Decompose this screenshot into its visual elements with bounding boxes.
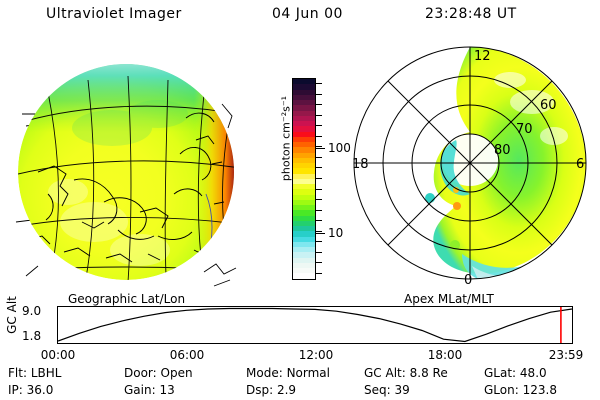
time-tick-4: 23:59: [549, 348, 584, 362]
status-mode-label: Mode:: [246, 366, 283, 380]
orbit-ytick-high: 9.0: [22, 304, 41, 318]
time-tick-2: 12:00: [299, 348, 334, 362]
orbit-altitude-panel[interactable]: GC Alt 9.0 1.8: [0, 306, 600, 348]
colorbar-band: [293, 273, 315, 278]
colorbar-minor-tick: [316, 220, 322, 221]
colorbar-minor-tick: [316, 94, 322, 95]
colorbar-minor-tick: [316, 210, 322, 211]
colorbar-minor-tick: [316, 167, 322, 168]
status-gcalt-label: GC Alt:: [364, 366, 406, 380]
mlt-label-18: 18: [352, 157, 369, 172]
status-glon: GLon: 123.8: [484, 383, 557, 397]
mlt-label-12: 12: [474, 49, 491, 64]
colorbar-minor-tick: [316, 104, 322, 105]
colorbar-tick-label: 10: [328, 226, 343, 240]
mlat-label-70: 70: [516, 122, 533, 137]
status-filter-label: Flt:: [8, 366, 27, 380]
apex-polar-panel[interactable]: 12 18 6 0 80 70 60: [344, 40, 596, 292]
colorbar-major-tick: [316, 233, 325, 234]
status-seq: Seq: 39: [364, 383, 410, 397]
apex-panel-caption: Apex MLat/MLT: [404, 292, 494, 306]
auroral-oval: [425, 47, 586, 286]
status-glon-label: GLon:: [484, 383, 519, 397]
colorbar-minor-tick: [316, 199, 322, 200]
mlat-label-80: 80: [494, 143, 511, 158]
colorbar-minor-tick: [316, 262, 322, 263]
status-dsp-label: Dsp:: [246, 383, 273, 397]
colorbar-minor-tick: [316, 241, 322, 242]
status-dsp-value: 2.9: [277, 383, 296, 397]
status-ip-label: IP:: [8, 383, 23, 397]
status-glat-value: 48.0: [520, 366, 547, 380]
status-seq-label: Seq:: [364, 383, 391, 397]
status-door: Door: Open: [124, 366, 193, 380]
orbit-ytick-low: 1.8: [22, 329, 41, 343]
orbit-y-axis-label: GC Alt: [5, 287, 19, 343]
status-gain: Gain: 13: [124, 383, 175, 397]
globe-image[interactable]: [8, 44, 270, 292]
status-ip-value: 36.0: [27, 383, 54, 397]
status-seq-value: 39: [395, 383, 410, 397]
status-gcalt-value: 8.8 Re: [410, 366, 448, 380]
status-glat: GLat: 48.0: [484, 366, 547, 380]
time-axis: 00:00 06:00 12:00 18:00 23:59: [0, 348, 600, 364]
colorbar-minor-tick: [316, 125, 322, 126]
colorbar-axis-label: photon cm⁻²s⁻¹: [280, 79, 293, 199]
status-glat-label: GLat:: [484, 366, 516, 380]
colorbar-minor-tick: [316, 252, 322, 253]
mlt-label-0: 0: [464, 273, 472, 288]
status-gain-value: 13: [159, 383, 174, 397]
header-bar: Ultraviolet Imager 04 Jun 00 23:28:48 UT: [0, 6, 600, 28]
status-filter-value: LBHL: [31, 366, 62, 380]
status-door-label: Door:: [124, 366, 157, 380]
mlat-label-60: 60: [540, 98, 557, 113]
mlt-label-6: 6: [576, 157, 584, 172]
status-gain-label: Gain:: [124, 383, 156, 397]
orbit-plot-area[interactable]: [57, 306, 573, 344]
geographic-panel-caption: Geographic Lat/Lon: [68, 292, 185, 306]
observation-date: 04 Jun 00: [272, 6, 343, 22]
instrument-title: Ultraviolet Imager: [46, 6, 182, 22]
colorbar-minor-tick: [316, 83, 322, 84]
colorbar-minor-tick: [316, 178, 322, 179]
time-tick-0: 00:00: [41, 348, 76, 362]
geographic-globe-panel[interactable]: [8, 44, 270, 292]
colorbar-minor-tick: [316, 273, 322, 274]
earth-disk: [8, 54, 270, 282]
colorbar-minor-tick: [316, 231, 322, 232]
colorbar-minor-tick: [316, 136, 322, 137]
colorbar-minor-tick: [316, 157, 322, 158]
uv-imager-display: Ultraviolet Imager 04 Jun 00 23:28:48 UT: [0, 0, 600, 400]
polar-plot-image[interactable]: 12 18 6 0 80 70 60: [344, 40, 596, 292]
status-gcalt: GC Alt: 8.8 Re: [364, 366, 448, 380]
observation-time: 23:28:48 UT: [425, 6, 517, 22]
orbit-altitude-curve: [58, 307, 572, 343]
status-panel: Flt: LBHL Door: Open Mode: Normal GC Alt…: [0, 366, 600, 400]
status-mode-value: Normal: [287, 366, 330, 380]
status-mode: Mode: Normal: [246, 366, 330, 380]
colorbar-minor-tick: [316, 189, 322, 190]
status-dsp: Dsp: 2.9: [246, 383, 296, 397]
colorbar-major-tick: [316, 148, 325, 149]
colorbar-panel: photon cm⁻²s⁻¹ 10010: [270, 70, 340, 290]
status-door-value: Open: [161, 366, 193, 380]
orbit-curve-path: [58, 309, 572, 342]
status-glon-value: 123.8: [523, 383, 557, 397]
colorbar-minor-tick: [316, 115, 322, 116]
time-tick-1: 06:00: [170, 348, 205, 362]
time-tick-3: 18:00: [428, 348, 463, 362]
colorbar-gradient: [292, 78, 316, 280]
polar-grid-spokes: [354, 47, 586, 279]
status-ip: IP: 36.0: [8, 383, 53, 397]
status-filter: Flt: LBHL: [8, 366, 61, 380]
